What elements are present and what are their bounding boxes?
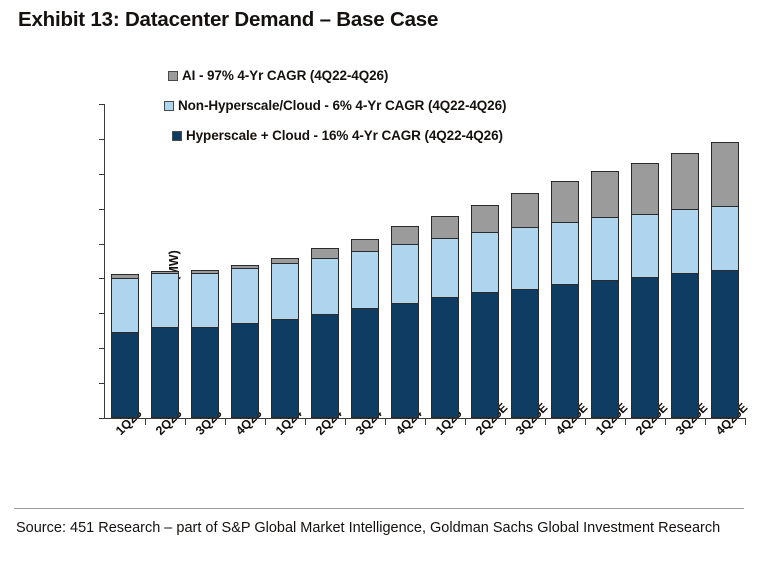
legend-item-ai[interactable]: AI - 97% 4-Yr CAGR (4Q22-4Q26) [168,68,388,83]
bar-segment-hyperscale-cloud[interactable] [671,273,699,418]
bar-4q25e[interactable] [551,181,579,418]
bar-segment-non-hyperscale-cloud[interactable] [591,217,619,282]
bar-segment-ai[interactable] [431,216,459,240]
bar-segment-hyperscale-cloud[interactable] [511,289,539,418]
bar-3q25e[interactable] [511,193,539,418]
x-axis-tick-mark [665,418,666,425]
bar-2q25e[interactable] [471,205,499,419]
bar-segment-hyperscale-cloud[interactable] [111,332,139,418]
x-axis-tick-mark [305,418,306,425]
bar-1q24[interactable] [271,258,299,418]
bar-4q23[interactable] [231,265,259,418]
legend-item-non-hyperscale[interactable]: Non-Hyperscale/Cloud - 6% 4-Yr CAGR (4Q2… [164,98,506,113]
x-axis-tick-mark [705,418,706,425]
bar-segment-hyperscale-cloud[interactable] [551,284,579,418]
source-note: Source: 451 Research – part of S&P Globa… [16,518,732,540]
bar-2q23[interactable] [151,271,179,418]
bar-segment-non-hyperscale-cloud[interactable] [311,258,339,316]
bar-segment-ai[interactable] [391,226,419,245]
y-axis-tick-mark [99,383,105,384]
bar-segment-hyperscale-cloud[interactable] [711,270,739,418]
y-axis-tick-mark [99,348,105,349]
chart-legend: AI - 97% 4-Yr CAGR (4Q22-4Q26)Non-Hypers… [0,60,758,150]
x-axis-tick-mark [465,418,466,425]
bar-4q26e[interactable] [711,142,739,418]
bar-segment-non-hyperscale-cloud[interactable] [471,232,499,294]
legend-label: Non-Hyperscale/Cloud - 6% 4-Yr CAGR (4Q2… [178,98,506,113]
bar-segment-non-hyperscale-cloud[interactable] [671,209,699,274]
bar-1q23[interactable] [111,274,139,418]
bar-segment-ai[interactable] [711,142,739,207]
bar-4q24[interactable] [391,226,419,418]
bar-segment-ai[interactable] [671,153,699,211]
bar-segment-ai[interactable] [551,181,579,223]
bar-3q26e[interactable] [671,153,699,418]
bar-segment-hyperscale-cloud[interactable] [591,280,619,418]
bar-1q26e[interactable] [591,171,619,418]
bar-segment-non-hyperscale-cloud[interactable] [231,268,259,324]
x-axis-tick-mark [385,418,386,425]
bar-segment-hyperscale-cloud[interactable] [351,308,379,418]
x-axis-tick-mark [625,418,626,425]
bar-segment-hyperscale-cloud[interactable] [431,297,459,418]
legend-label: Hyperscale + Cloud - 16% 4-Yr CAGR (4Q22… [186,128,503,143]
bar-segment-non-hyperscale-cloud[interactable] [111,278,139,333]
x-axis-tick-mark [265,418,266,425]
x-axis-tick-mark [145,418,146,425]
bar-segment-hyperscale-cloud[interactable] [191,327,219,418]
bar-2q26e[interactable] [631,163,659,418]
bar-segment-hyperscale-cloud[interactable] [391,303,419,418]
x-axis-tick-mark [185,418,186,425]
legend-swatch-ai [168,71,178,81]
x-axis-tick-mark [225,418,226,425]
x-axis-tick-mark [585,418,586,425]
bar-segment-non-hyperscale-cloud[interactable] [191,273,219,329]
bar-segment-ai[interactable] [471,205,499,234]
bar-segment-hyperscale-cloud[interactable] [311,314,339,418]
x-axis-tick-mark [545,418,546,425]
bar-segment-hyperscale-cloud[interactable] [271,319,299,418]
legend-swatch-hyperscale [172,131,182,141]
bar-segment-hyperscale-cloud[interactable] [631,277,659,418]
y-axis-tick-mark [99,209,105,210]
page-title: Exhibit 13: Datacenter Demand – Base Cas… [18,8,438,32]
bar-segment-ai[interactable] [591,171,619,218]
x-axis-tick-mark [505,418,506,425]
legend-item-hyperscale[interactable]: Hyperscale + Cloud - 16% 4-Yr CAGR (4Q22… [172,128,503,143]
bar-segment-ai[interactable] [631,163,659,215]
x-axis-tick-mark [425,418,426,425]
bar-segment-non-hyperscale-cloud[interactable] [271,263,299,320]
bar-2q24[interactable] [311,248,339,418]
y-axis-tick-mark [99,174,105,175]
x-axis-tick-mark [745,418,746,425]
y-axis-tick-mark [99,313,105,314]
legend-label: AI - 97% 4-Yr CAGR (4Q22-4Q26) [182,68,388,83]
legend-swatch-non-hyperscale [164,101,174,111]
bar-segment-non-hyperscale-cloud[interactable] [151,273,179,328]
footer-divider [14,508,744,509]
bar-segment-non-hyperscale-cloud[interactable] [631,214,659,279]
bar-segment-non-hyperscale-cloud[interactable] [511,227,539,290]
bar-3q24[interactable] [351,239,379,418]
bar-3q23[interactable] [191,270,219,418]
bar-segment-hyperscale-cloud[interactable] [231,323,259,418]
bar-segment-hyperscale-cloud[interactable] [151,327,179,418]
bar-segment-hyperscale-cloud[interactable] [471,292,499,418]
chart-container: Power (MW) 010,00020,00030,00040,00050,0… [0,48,758,488]
y-axis-tick-mark [99,278,105,279]
bar-segment-non-hyperscale-cloud[interactable] [551,222,579,286]
bar-segment-ai[interactable] [511,193,539,229]
bar-segment-non-hyperscale-cloud[interactable] [431,238,459,298]
y-axis-tick-mark [99,418,105,419]
bar-segment-non-hyperscale-cloud[interactable] [391,244,419,304]
bar-1q25[interactable] [431,216,459,418]
bar-segment-non-hyperscale-cloud[interactable] [711,206,739,271]
y-axis-tick-mark [99,244,105,245]
x-axis-tick-mark [345,418,346,425]
plot-area: Power (MW) 010,00020,00030,00040,00050,0… [104,104,745,419]
bar-segment-non-hyperscale-cloud[interactable] [351,251,379,309]
